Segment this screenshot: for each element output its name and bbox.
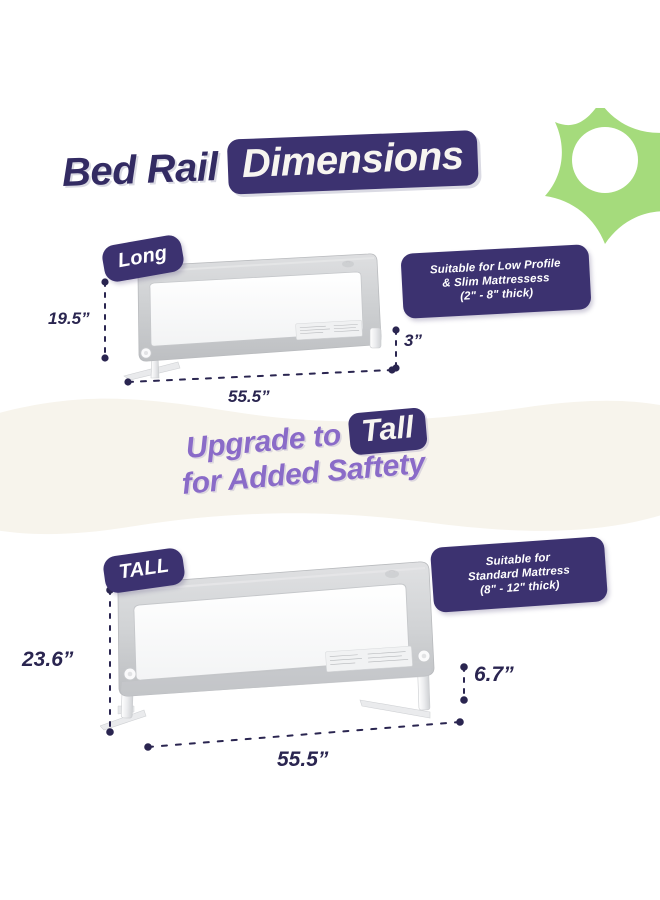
badge-suitability-tall: Suitable for Standard Mattress (8" - 12"… xyxy=(430,536,608,613)
brand-logo-emboss xyxy=(342,261,354,268)
page-title: Bed Rail Dimensions xyxy=(61,130,479,201)
dim-label-tall-leg-clearance: 6.7” xyxy=(474,663,514,687)
page-title-chip: Dimensions xyxy=(227,130,479,195)
page-title-plain: Bed Rail xyxy=(61,145,219,196)
infographic-page: Bed Rail Dimensions Upgrade to Tall for … xyxy=(0,0,660,900)
green-starburst-icon xyxy=(525,108,660,258)
dim-label-long-height: 19.5” xyxy=(48,309,90,329)
dim-label-tall-length: 55.5” xyxy=(277,748,328,772)
dim-label-long-length: 55.5” xyxy=(228,387,270,407)
product-spec-label xyxy=(296,320,363,340)
brand-logo-emboss xyxy=(385,570,399,578)
dim-label-tall-height: 23.6” xyxy=(22,648,73,672)
dim-label-long-leg-clearance: 3” xyxy=(404,331,422,351)
badge-suitability-long: Suitable for Low Profile & Slim Mattress… xyxy=(400,244,591,319)
